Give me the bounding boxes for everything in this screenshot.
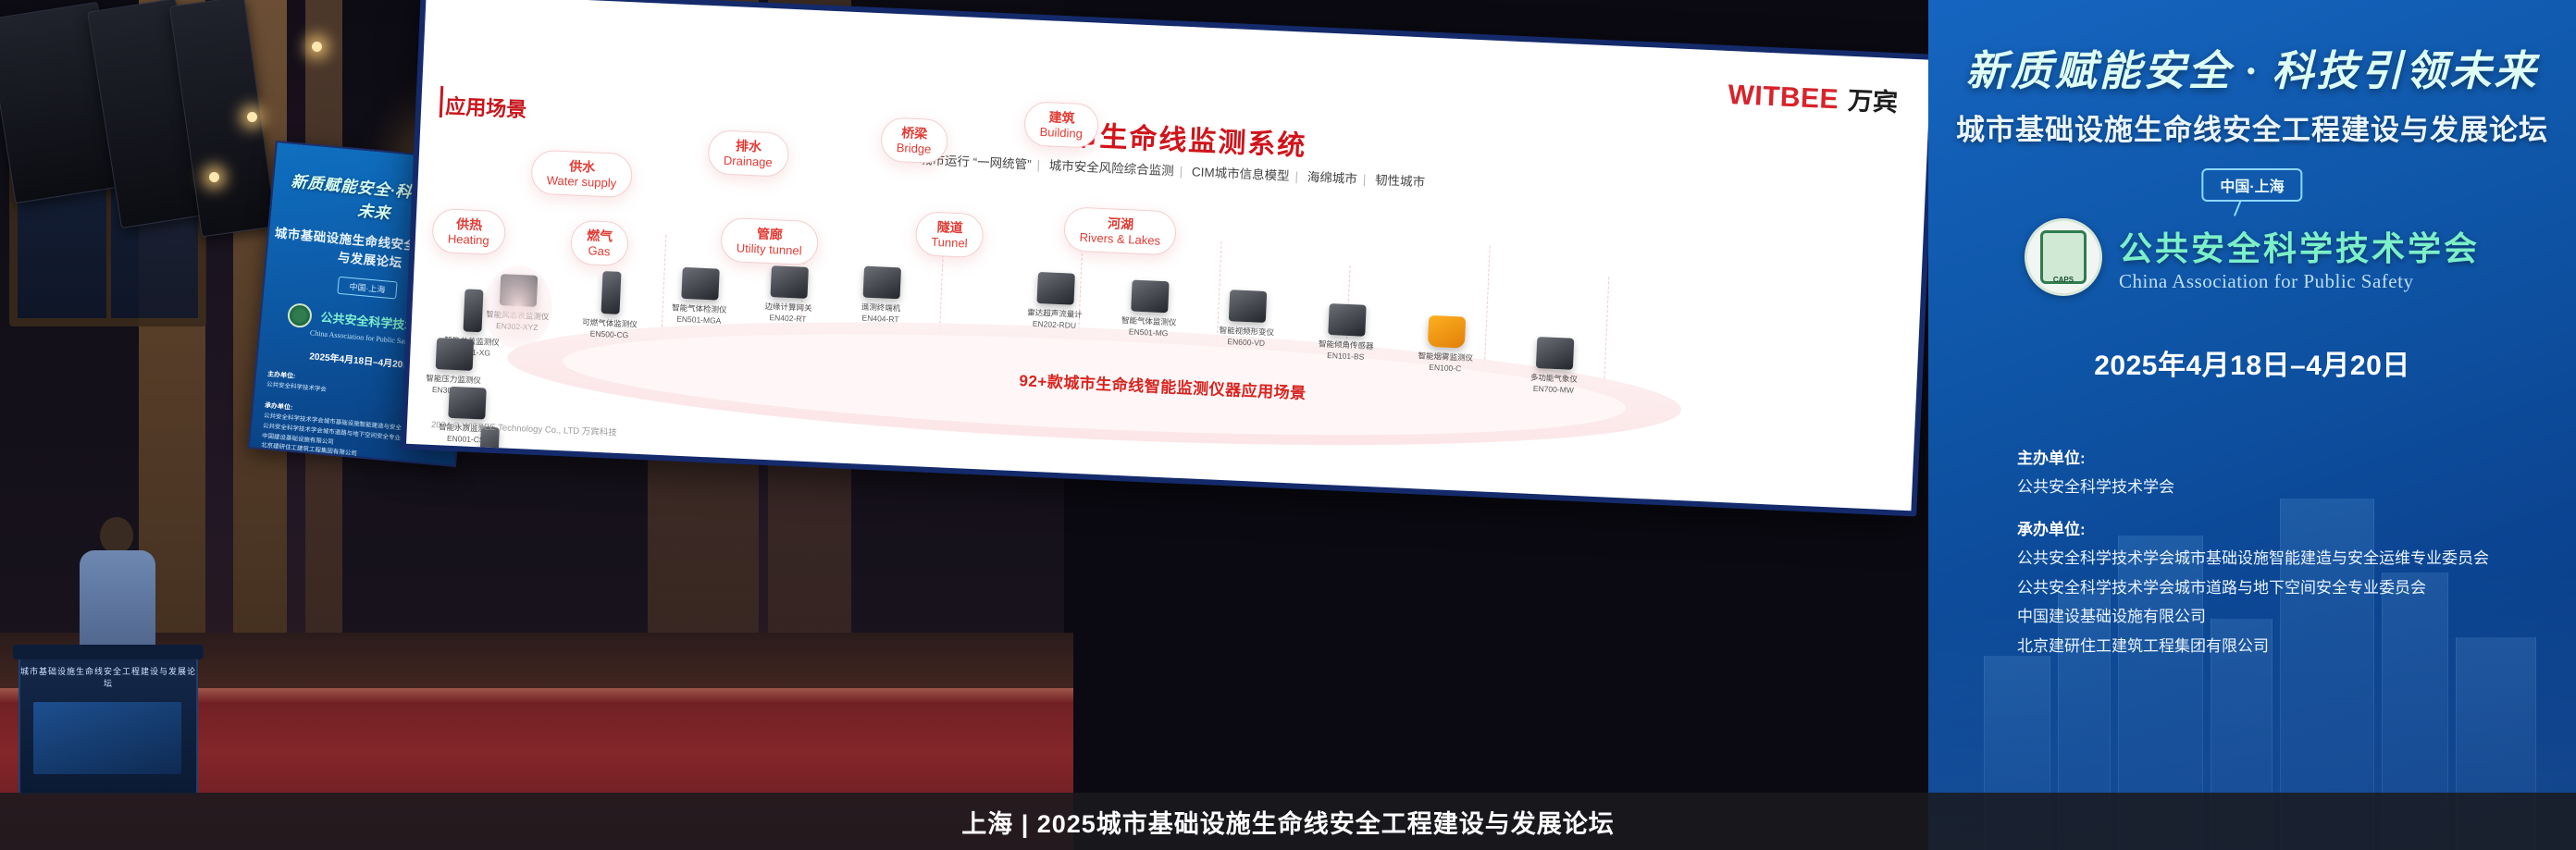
spot-light bbox=[312, 42, 322, 52]
device-icon bbox=[448, 387, 486, 420]
scenario-pill-drainage[interactable]: 排水 Drainage bbox=[707, 129, 789, 178]
event-banner: 新质赋能安全 · 科技引领未来 城市基础设施生命线安全工程建设与发展论坛 中国·… bbox=[1928, 0, 2576, 850]
podium-screen bbox=[33, 702, 181, 774]
device-label: 遥测终端机 EN404-RT bbox=[830, 300, 931, 326]
device-item[interactable]: 智能气体检测仪 EN501-MGA bbox=[649, 265, 751, 327]
pill-label-en: Building bbox=[1039, 124, 1083, 140]
spot-light bbox=[209, 172, 219, 182]
spot-light bbox=[247, 112, 257, 122]
device-code: EN500-CG bbox=[589, 329, 628, 340]
pill-label-en: Tunnel bbox=[931, 234, 968, 250]
device-code: EN402-RT bbox=[769, 313, 806, 324]
scenario-pill-rivers-lakes[interactable]: 河湖 Rivers & Lakes bbox=[1063, 206, 1177, 255]
scenario-pill-utility-tunnel[interactable]: 管廊 Utility tunnel bbox=[720, 217, 819, 265]
pill-label-en: Bridge bbox=[896, 141, 931, 156]
subtitle-sep: | bbox=[1179, 165, 1183, 179]
coorganizer-item: 中国建设基础设施有限公司 bbox=[2017, 602, 2539, 631]
projection-screen: WITBEE 万宾 应用场景 城市生命线监测系统 城市运行 “一网统管”| 城市… bbox=[401, 0, 1938, 516]
banner-org-en: China Association for Public Safety bbox=[2119, 270, 2480, 293]
device-label: 智能气体监测仪 EN501-MG bbox=[1098, 314, 1199, 340]
device-item[interactable]: 边缘计算网关 EN402-RT bbox=[737, 265, 840, 326]
caps-seal-icon: CAPS bbox=[2025, 218, 2102, 296]
device-item[interactable]: 智能气体监测仪 EN501-MG bbox=[1098, 278, 1201, 340]
podium-top bbox=[13, 645, 204, 659]
device-code: EN501-MGA bbox=[676, 314, 722, 326]
mini-banner-host-label: 主办单位: bbox=[267, 371, 296, 380]
device-icon bbox=[436, 338, 474, 371]
banner-units: 主办单位: 公共安全科学技术学会 承办单位: 公共安全科学技术学会城市基础设施智… bbox=[2017, 444, 2539, 660]
pill-label-en: Gas bbox=[586, 243, 613, 259]
witbee-logo-latin: WITBEE bbox=[1728, 80, 1839, 116]
pill-label-en: Heating bbox=[448, 231, 489, 247]
device-icon bbox=[463, 289, 483, 332]
pill-label-cn: 燃气 bbox=[587, 228, 613, 244]
device-code: EN700-MW bbox=[1533, 384, 1574, 395]
subtitle-sep: | bbox=[1294, 169, 1298, 183]
pill-label-en: Drainage bbox=[724, 153, 773, 169]
device-code: EN600-VD bbox=[1227, 337, 1265, 348]
device-icon bbox=[1328, 303, 1366, 337]
device-label: 智能气体检测仪 EN501-MGA bbox=[649, 301, 749, 327]
seal-caps-text: CAPS bbox=[2027, 276, 2099, 284]
pill-label-en: Utility tunnel bbox=[736, 240, 801, 257]
scenario-pill-heating[interactable]: 供热 Heating bbox=[431, 208, 506, 255]
subtitle-item: 海绵城市 bbox=[1307, 170, 1358, 186]
banner-location-chip: 中国·上海 bbox=[2201, 168, 2302, 202]
subtitle-item: CIM城市信息模型 bbox=[1192, 165, 1290, 183]
caption-bar: 上海 | 2025城市基础设施生命线安全工程建设与发展论坛 bbox=[0, 793, 2576, 850]
banner-org-text: 公共安全科学技术学会 China Association for Public … bbox=[2119, 222, 2480, 293]
device-code: EN101-BS bbox=[1327, 351, 1365, 362]
coorganizer-item: 公共安全科学技术学会城市道路与地下空间安全专业委员会 bbox=[2017, 573, 2539, 602]
podium: 城市基础设施生命线安全工程建设与发展论坛 bbox=[19, 652, 198, 795]
witbee-logo-chinese: 万宾 bbox=[1847, 80, 1899, 118]
banner-date: 2025年4月18日–4月20日 bbox=[1928, 342, 2576, 383]
device-label: 智能倾角传感器 EN101-BS bbox=[1295, 337, 1396, 363]
pill-label-en: Rivers & Lakes bbox=[1079, 229, 1160, 247]
coorganizer-item: 公共安全科学技术学会城市基础设施智能建造与安全运维专业委员会 bbox=[2017, 544, 2539, 573]
pill-label-cn: 隧道 bbox=[932, 219, 969, 236]
device-item[interactable]: 多功能气象仪 EN700-MW bbox=[1504, 336, 1606, 398]
device-item[interactable]: 智能烟雾监测仪 EN100-C bbox=[1395, 314, 1498, 376]
device-icon bbox=[1536, 337, 1574, 370]
device-code: EN100-C bbox=[1429, 363, 1461, 374]
units-spacer bbox=[2017, 502, 2539, 515]
device-label: 雷达超声流量计 EN202-RDU bbox=[1004, 305, 1105, 332]
scenario-pill-building[interactable]: 建筑 Building bbox=[1023, 101, 1099, 148]
device-item[interactable]: 智能视频形变仪 EN600-VD bbox=[1196, 289, 1299, 351]
device-item[interactable]: 遥测终端机 EN404-RT bbox=[830, 265, 933, 326]
caption-text: 上海 | 2025城市基础设施生命线安全工程建设与发展论坛 bbox=[961, 804, 1615, 840]
host-item: 公共安全科学技术学会 bbox=[2017, 473, 2539, 501]
coorganizer-item: 北京建研住工建筑工程集团有限公司 bbox=[2017, 632, 2539, 660]
podium-label: 城市基础设施生命线安全工程建设与发展论坛 bbox=[20, 665, 196, 689]
pill-label-en: Water supply bbox=[547, 173, 617, 191]
device-label: 多功能气象仪 EN700-MW bbox=[1504, 370, 1604, 397]
conference-stage-photo: 城市基础设施生命线安全工程建设与发展论坛 新质赋能安全·科技引领未来 城市基础设… bbox=[0, 0, 2576, 850]
device-icon bbox=[770, 265, 808, 299]
presenter-head bbox=[100, 517, 133, 554]
device-code: EN404-RT bbox=[861, 314, 898, 325]
banner-subhead: 城市基础设施生命线安全工程建设与发展论坛 bbox=[1928, 106, 2576, 148]
host-label: 主办单位: bbox=[2017, 444, 2539, 473]
device-item[interactable]: 可燃气体监测仪 EN500-CG bbox=[559, 269, 662, 342]
mini-banner-coorg-label: 承办单位: bbox=[265, 403, 293, 413]
pill-label-cn: 建筑 bbox=[1040, 109, 1084, 127]
device-label: 边缘计算网关 EN402-RT bbox=[737, 300, 838, 326]
banner-headline: 新质赋能安全 · 科技引领未来 bbox=[1928, 37, 2576, 97]
scenario-pill-gas[interactable]: 燃气 Gas bbox=[570, 219, 629, 266]
subtitle-sep: | bbox=[1362, 172, 1366, 186]
device-item[interactable]: 智能倾角传感器 EN101-BS bbox=[1295, 302, 1398, 364]
subtitle-item: 城市安全风险综合监测 bbox=[1048, 158, 1174, 178]
presentation-slide: WITBEE 万宾 应用场景 城市生命线监测系统 城市运行 “一网统管”| 城市… bbox=[406, 0, 1931, 511]
device-code: EN501-MG bbox=[1129, 327, 1169, 339]
device-item[interactable]: 雷达超声流量计 EN202-RDU bbox=[1004, 270, 1107, 332]
banner-organization: CAPS 公共安全科学技术学会 China Association for Pu… bbox=[1928, 218, 2576, 296]
device-label: 可燃气体监测仪 EN500-CG bbox=[559, 315, 660, 342]
pill-connector bbox=[1604, 277, 1609, 388]
device-icon bbox=[1036, 272, 1074, 305]
pill-label-cn: 供热 bbox=[448, 216, 490, 233]
device-icon bbox=[601, 271, 621, 314]
device-icon bbox=[1131, 280, 1169, 314]
device-label: 智能烟雾监测仪 EN100-C bbox=[1395, 349, 1496, 376]
coorganizer-label: 承办单位: bbox=[2017, 515, 2539, 544]
subtitle-sep: | bbox=[1036, 158, 1040, 172]
witbee-logo: WITBEE 万宾 bbox=[1728, 75, 1899, 118]
device-code: EN202-RDU bbox=[1033, 319, 1077, 330]
device-icon bbox=[863, 266, 901, 300]
subtitle-item: 韧性城市 bbox=[1375, 173, 1426, 189]
device-icon bbox=[1229, 289, 1267, 323]
device-icon bbox=[1428, 315, 1466, 349]
scenario-pill-tunnel[interactable]: 隧道 Tunnel bbox=[915, 211, 985, 258]
pill-label-cn: 桥梁 bbox=[897, 125, 932, 142]
banner-org-cn: 公共安全科学技术学会 bbox=[2119, 222, 2480, 270]
scenario-pill-bridge[interactable]: 桥梁 Bridge bbox=[880, 117, 948, 164]
scenario-pill-water-supply[interactable]: 供水 Water supply bbox=[530, 150, 633, 199]
device-icon bbox=[681, 267, 719, 301]
mini-banner-location-chip: 中国·上海 bbox=[337, 277, 397, 300]
caps-seal-icon bbox=[287, 302, 313, 328]
device-label: 智能视频形变仪 EN600-VD bbox=[1196, 324, 1297, 351]
